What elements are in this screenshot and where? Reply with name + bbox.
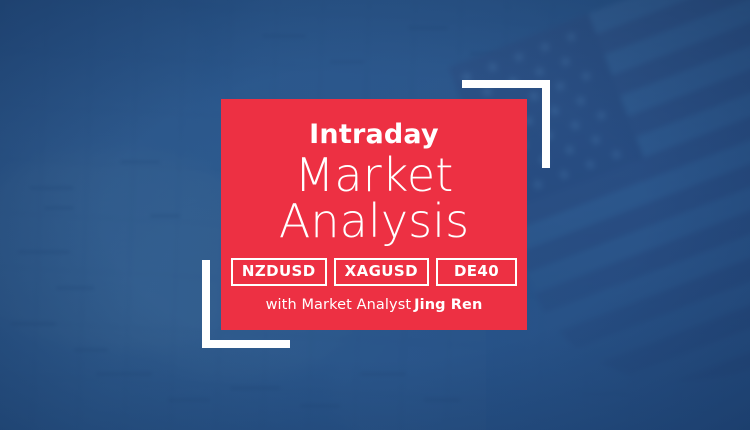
byline-prefix: with Market Analyst bbox=[266, 297, 412, 313]
kicker-text: Intraday bbox=[221, 121, 527, 149]
title-card: Intraday Market Analysis NZDUSD XAGUSD D… bbox=[221, 99, 527, 330]
byline: with Market AnalystJing Ren bbox=[221, 297, 527, 313]
ticker-badge-de40[interactable]: DE40 bbox=[436, 258, 517, 286]
page-title: Market Analysis bbox=[221, 153, 527, 244]
ticker-badge-list: NZDUSD XAGUSD DE40 bbox=[221, 258, 527, 286]
title-line-2: Analysis bbox=[221, 199, 527, 245]
ticker-badge-xagusd[interactable]: XAGUSD bbox=[334, 258, 429, 286]
promo-banner: Intraday Market Analysis NZDUSD XAGUSD D… bbox=[0, 0, 750, 430]
ticker-badge-nzdusd[interactable]: NZDUSD bbox=[231, 258, 327, 286]
analyst-name: Jing Ren bbox=[414, 297, 482, 313]
